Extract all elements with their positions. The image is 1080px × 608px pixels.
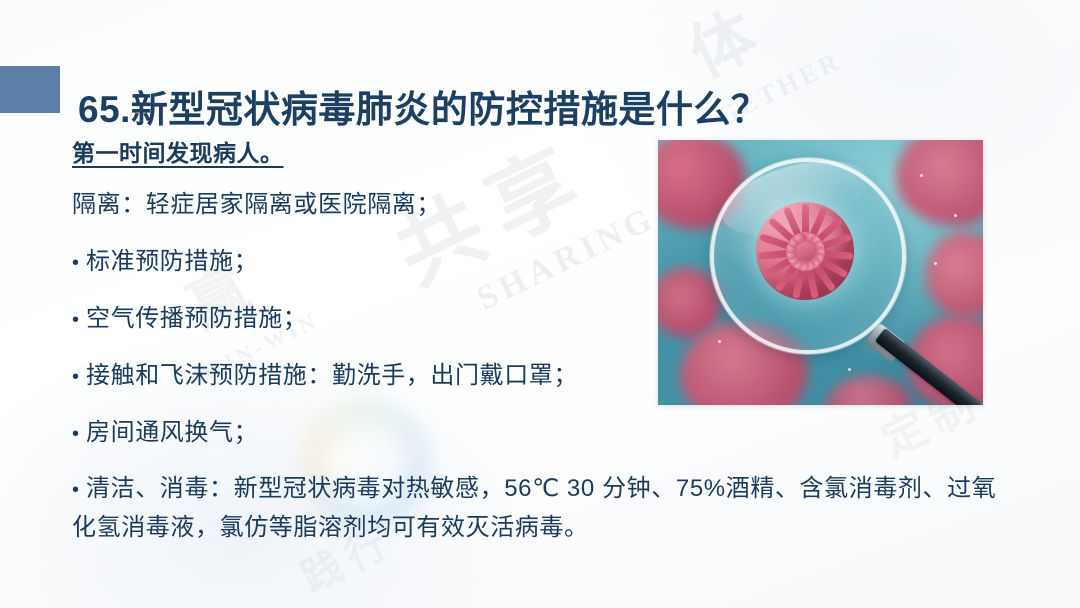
bullet-text: 标准预防措施； <box>86 248 258 275</box>
bullet-text: 房间通风换气； <box>86 419 258 446</box>
bullet-marker-icon: • <box>72 474 86 506</box>
bullet-item-airborne-precautions: •空气传播预防措施； <box>72 304 652 334</box>
light-speck <box>954 214 957 217</box>
body-content: 第一时间发现病人。 隔离：轻症居家隔离或医院隔离； •标准预防措施； •空气传播… <box>72 140 652 475</box>
bullet-marker-icon: • <box>72 365 86 390</box>
bullet-marker-icon: • <box>72 251 86 276</box>
light-speck <box>848 368 851 371</box>
coronavirus-magnifier-image <box>658 140 983 405</box>
light-speck <box>718 340 721 343</box>
page-title: 65.新型冠状病毒肺炎的防控措施是什么？ <box>78 87 768 133</box>
bullet-marker-icon: • <box>72 308 86 333</box>
isolation-line: 隔离：轻症居家隔离或医院隔离； <box>72 190 652 220</box>
bullet-item-contact-droplet-precautions: •接触和飞沫预防措施：勤洗手，出门戴口罩； <box>72 361 652 391</box>
watermark-together-cn: 体 <box>680 0 776 87</box>
bullet-item-cleaning-disinfection: •清洁、消毒：新型冠状病毒对热敏感，56℃ 30 分钟、75%酒精、含氯消毒剂、… <box>72 470 1010 548</box>
bullet-item-standard-precautions: •标准预防措施； <box>72 247 652 277</box>
title-accent-block <box>0 66 60 113</box>
lead-statement: 第一时间发现病人。 <box>72 140 652 168</box>
slide-canvas: 共享 SHARING 体 GETHER 赢 WIN-WIN 践行 定制 65.新… <box>0 0 1080 608</box>
bullet-text: 空气传播预防措施； <box>86 305 307 332</box>
light-speck <box>920 174 923 177</box>
closing-paragraph-text: 清洁、消毒：新型冠状病毒对热敏感，56℃ 30 分钟、75%酒精、含氯消毒剂、过… <box>72 475 996 541</box>
bullet-text: 接触和飞沫预防措施：勤洗手，出门戴口罩； <box>86 362 578 389</box>
bullet-marker-icon: • <box>72 422 86 447</box>
light-speck <box>934 262 937 265</box>
coronavirus-particle <box>756 202 854 300</box>
bullet-item-room-ventilation: •房间通风换气； <box>72 418 652 448</box>
